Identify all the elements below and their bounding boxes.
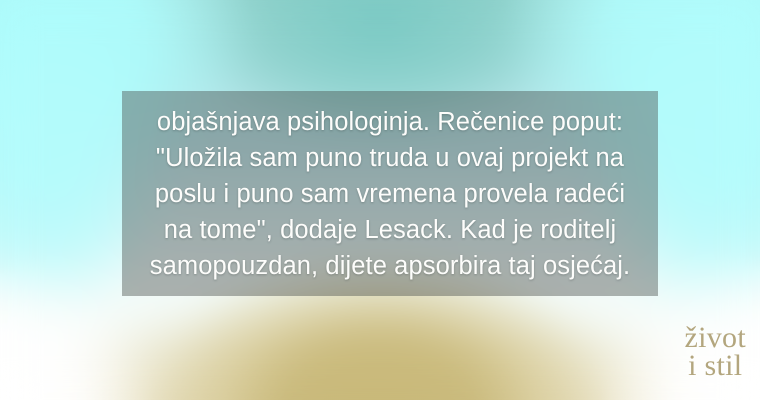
quote-overlay-panel: objašnjava psihologinja. Rečenice poput:… xyxy=(122,91,658,296)
quote-line-2: "Uložila sam puno truda u ovaj projekt n… xyxy=(132,140,648,176)
quote-card: objašnjava psihologinja. Rečenice poput:… xyxy=(0,0,760,400)
brand-logo-line-2: i stil xyxy=(685,351,747,382)
quote-line-3: poslu i puno sam vremena provela radeći xyxy=(132,176,648,212)
quote-line-4: na tome", dodaje Lesack. Kad je roditelj xyxy=(132,212,648,248)
quote-line-5: samopouzdan, dijete apsorbira taj osjeća… xyxy=(132,248,648,284)
quote-text-block: objašnjava psihologinja. Rečenice poput:… xyxy=(132,104,648,284)
quote-line-1: objašnjava psihologinja. Rečenice poput: xyxy=(132,104,648,140)
brand-logo: život i stil xyxy=(685,323,747,382)
